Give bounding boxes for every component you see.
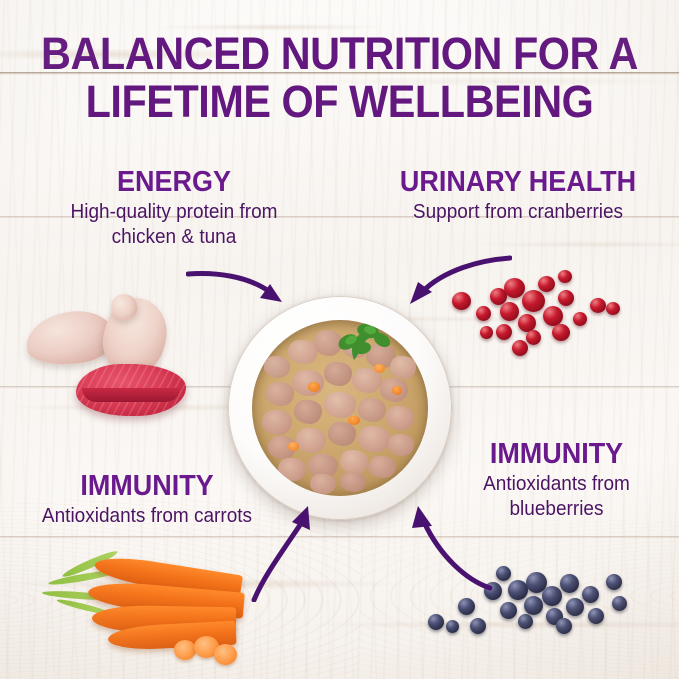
cranberry	[526, 330, 541, 345]
blueberry	[612, 596, 627, 611]
benefit-urinary-health: URINARY HEALTH Support from cranberries	[368, 166, 668, 225]
cranberry	[573, 312, 587, 326]
benefit-energy-desc-line-2: chicken & tuna	[112, 226, 237, 248]
page-title-line-1: BALANCED NUTRITION FOR A	[27, 30, 652, 78]
blueberry	[524, 596, 543, 615]
arrow-urinary-to-bowl-icon	[392, 248, 512, 320]
cranberry	[538, 276, 555, 292]
blueberry	[518, 614, 533, 629]
benefit-energy: ENERGY High-quality protein from chicken…	[14, 166, 334, 250]
carrot-slice	[214, 644, 237, 665]
tuna-steak-edge	[82, 388, 180, 402]
page-title-line-2: LIFETIME OF WELLBEING	[27, 78, 652, 126]
cranberry	[512, 340, 528, 356]
cranberry	[496, 324, 512, 340]
blueberry	[470, 618, 486, 634]
cranberry	[590, 298, 606, 313]
cranberry	[522, 290, 545, 312]
blueberry	[542, 586, 562, 606]
blueberry	[508, 580, 528, 600]
benefit-energy-desc-line-1: High-quality protein from	[71, 201, 278, 223]
benefit-urinary-health-description: Support from cranberries	[376, 200, 661, 225]
arrow-blueberries-to-bowl-icon	[374, 492, 494, 602]
benefit-immunity-blueberries-desc-line-2: blueberries	[509, 498, 603, 520]
benefit-immunity-blueberries-desc-line-1: Antioxidants from	[483, 473, 630, 495]
benefit-energy-description: High-quality protein from chicken & tuna	[22, 200, 326, 250]
benefit-immunity-blueberries-heading: IMMUNITY	[443, 438, 671, 470]
blueberry	[566, 598, 584, 616]
cranberry	[543, 306, 563, 326]
benefit-energy-heading: ENERGY	[25, 166, 323, 198]
bowl-rim-highlight	[228, 296, 452, 520]
cranberry	[480, 326, 493, 339]
arrow-carrots-to-bowl-icon	[248, 492, 344, 602]
blueberry	[446, 620, 459, 633]
benefit-immunity-carrots-description: Antioxidants from carrots	[9, 504, 285, 529]
blueberry	[496, 566, 511, 581]
benefit-urinary-health-heading: URINARY HEALTH	[379, 166, 658, 198]
cranberry	[606, 302, 620, 315]
nutrition-infographic: BALANCED NUTRITION FOR A LIFETIME OF WEL…	[0, 0, 679, 679]
blueberry	[560, 574, 579, 593]
blueberry	[588, 608, 604, 624]
image-food-bowl	[228, 296, 452, 520]
carrot-slice	[174, 640, 196, 660]
benefit-immunity-carrots-heading: IMMUNITY	[12, 470, 282, 502]
blueberry	[582, 586, 599, 603]
blueberry	[606, 574, 622, 590]
arrow-energy-to-bowl-icon	[186, 248, 306, 320]
page-title: BALANCED NUTRITION FOR A LIFETIME OF WEL…	[27, 30, 652, 126]
blueberry	[428, 614, 444, 630]
blueberry	[556, 618, 572, 634]
cranberry	[558, 270, 572, 283]
cranberry	[558, 290, 574, 306]
blueberry	[500, 602, 517, 619]
image-chicken-and-tuna	[8, 292, 213, 427]
cranberry	[552, 324, 570, 341]
